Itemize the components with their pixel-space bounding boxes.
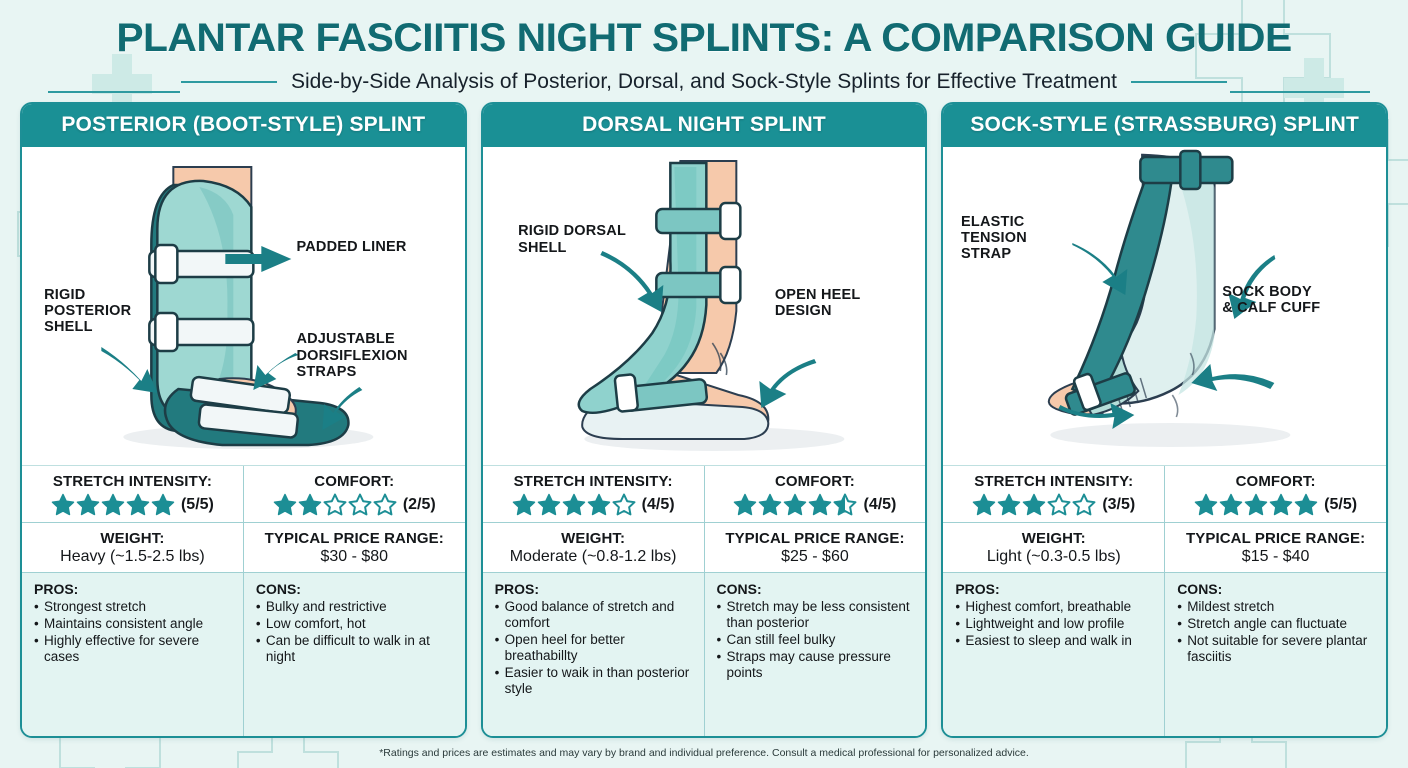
list-item: Lightweight and low profile — [955, 616, 1154, 632]
spec-value: Light (~0.3-0.5 lbs) — [947, 548, 1160, 566]
star-full-icon — [1294, 493, 1318, 516]
illustration-posterior-boot: PADDED LINER RIGIDPOSTERIORSHELL ADJUSTA… — [22, 147, 465, 465]
spec-row-weight-price: WEIGHT: Light (~0.3-0.5 lbs) TYPICAL PRI… — [943, 523, 1386, 572]
star-empty-icon — [612, 493, 636, 516]
spec-price: TYPICAL PRICE RANGE: $25 - $60 — [704, 523, 926, 572]
stars-comfort: (5/5) — [1169, 493, 1382, 516]
stars-comfort: (2/5) — [248, 493, 461, 516]
callout-line: POSTERIOR — [44, 303, 131, 319]
list-item: Not suitable for severe plantar fasciiti… — [1177, 633, 1376, 665]
callout-line: TENSION — [961, 230, 1027, 246]
spec-value: $30 - $80 — [248, 548, 461, 566]
star-full-icon — [758, 493, 782, 516]
star-full-icon — [512, 493, 536, 516]
star-full-icon — [733, 493, 757, 516]
spec-label: COMFORT: — [709, 473, 922, 490]
card-posterior-splint[interactable]: POSTERIOR (BOOT-STYLE) SPLINT — [20, 102, 467, 738]
pros-column: PROS: Strongest stretchMaintains consist… — [22, 573, 243, 736]
page-subtitle: Side-by-Side Analysis of Posterior, Dors… — [291, 70, 1117, 94]
stars-stretch: (4/5) — [487, 493, 700, 516]
stars-comfort: (4/5) — [709, 493, 922, 516]
star-full-icon — [126, 493, 150, 516]
callout-line: DORSIFLEXION — [296, 348, 407, 364]
pros-list: Good balance of stretch and comfortOpen … — [495, 599, 694, 697]
cons-column: CONS: Bulky and restrictiveLow comfort, … — [243, 573, 465, 736]
spec-label: STRETCH INTENSITY: — [26, 473, 239, 490]
spec-label: COMFORT: — [1169, 473, 1382, 490]
star-full-icon — [1244, 493, 1268, 516]
rating-score: (4/5) — [863, 496, 896, 514]
spec-stretch-intensity: STRETCH INTENSITY: (4/5) — [483, 466, 704, 522]
star-full-icon — [587, 493, 611, 516]
star-empty-icon — [373, 493, 397, 516]
callout-sock-body-calf-cuff: SOCK BODY& CALF CUFF — [1222, 284, 1320, 316]
spec-value: Heavy (~1.5-2.5 lbs) — [26, 548, 239, 566]
spec-label: WEIGHT: — [947, 530, 1160, 547]
star-full-icon — [537, 493, 561, 516]
spec-table: STRETCH INTENSITY: (3/5) COMFORT: (5/5) … — [943, 465, 1386, 572]
star-full-icon — [1194, 493, 1218, 516]
callout-line: STRAP — [961, 246, 1027, 262]
page-header: PLANTAR FASCIITIS NIGHT SPLINTS: A COMPA… — [0, 0, 1408, 94]
star-full-icon — [997, 493, 1021, 516]
list-item: Can be difficult to walk in at night — [256, 633, 455, 665]
spec-label: TYPICAL PRICE RANGE: — [709, 530, 922, 547]
pros-title: PROS: — [495, 581, 694, 597]
callout-line: & CALF CUFF — [1222, 300, 1320, 316]
rating-score: (5/5) — [1324, 496, 1357, 514]
list-item: Highly effective for severe cases — [34, 633, 233, 665]
spec-label: TYPICAL PRICE RANGE: — [248, 530, 461, 547]
list-item: Good balance of stretch and comfort — [495, 599, 694, 631]
callout-line: ELASTIC — [961, 214, 1027, 230]
rating-score: (5/5) — [181, 496, 214, 514]
callout-line: DESIGN — [775, 303, 861, 319]
list-item: Strongest stretch — [34, 599, 233, 615]
cons-column: CONS: Stretch may be less consistent tha… — [704, 573, 926, 736]
spec-price: TYPICAL PRICE RANGE: $15 - $40 — [1164, 523, 1386, 572]
callout-rigid-dorsal-shell: RIGID DORSALSHELL — [518, 223, 626, 255]
list-item: Highest comfort, breathable — [955, 599, 1154, 615]
spec-price: TYPICAL PRICE RANGE: $30 - $80 — [243, 523, 465, 572]
callout-rigid-posterior-shell: RIGIDPOSTERIORSHELL — [44, 287, 131, 336]
pros-column: PROS: Good balance of stretch and comfor… — [483, 573, 704, 736]
cons-list: Bulky and restrictiveLow comfort, hotCan… — [256, 599, 455, 665]
star-empty-icon — [348, 493, 372, 516]
list-item: Bulky and restrictive — [256, 599, 455, 615]
cons-column: CONS: Mildest stretchStretch angle can f… — [1164, 573, 1386, 736]
spec-table: STRETCH INTENSITY: (4/5) COMFORT: (4/5) … — [483, 465, 926, 572]
spec-label: STRETCH INTENSITY: — [487, 473, 700, 490]
cons-list: Mildest stretchStretch angle can fluctua… — [1177, 599, 1376, 665]
star-full-icon — [273, 493, 297, 516]
cons-list: Stretch may be less consistent than post… — [717, 599, 916, 681]
star-full-icon — [808, 493, 832, 516]
pros-title: PROS: — [34, 581, 233, 597]
star-full-icon — [1022, 493, 1046, 516]
card-sock-style-splint[interactable]: SOCK-STYLE (STRASSBURG) SPLINT — [941, 102, 1388, 738]
callout-line: ADJUSTABLE — [296, 331, 407, 347]
subtitle-rule-right — [1131, 81, 1227, 83]
page-title: PLANTAR FASCIITIS NIGHT SPLINTS: A COMPA… — [0, 16, 1408, 61]
spec-comfort: COMFORT: (4/5) — [704, 466, 926, 522]
list-item: Straps may cause pressure points — [717, 649, 916, 681]
list-item: Open heel for better breathabillty — [495, 632, 694, 664]
pros-cons: PROS: Good balance of stretch and comfor… — [483, 572, 926, 736]
list-item: Can still feel bulky — [717, 632, 916, 648]
callout-line: SHELL — [518, 240, 626, 256]
subtitle-rule-left — [181, 81, 277, 83]
stars-stretch: (5/5) — [26, 493, 239, 516]
disclaimer-text: *Ratings and prices are estimates and ma… — [379, 747, 1029, 759]
spec-stretch-intensity: STRETCH INTENSITY: (5/5) — [22, 466, 243, 522]
illustration-dorsal-splint: RIGID DORSALSHELL OPEN HEELDESIGN — [483, 147, 926, 465]
card-title: SOCK-STYLE (STRASSBURG) SPLINT — [943, 104, 1386, 147]
illustration-sock-splint: ELASTICTENSIONSTRAP SOCK BODY& CALF CUFF — [943, 147, 1386, 465]
spec-label: WEIGHT: — [26, 530, 239, 547]
callout-open-heel-design: OPEN HEELDESIGN — [775, 287, 861, 319]
subtitle-row: Side-by-Side Analysis of Posterior, Dors… — [0, 70, 1408, 94]
star-full-icon — [101, 493, 125, 516]
cons-title: CONS: — [1177, 581, 1376, 597]
spec-row-weight-price: WEIGHT: Moderate (~0.8-1.2 lbs) TYPICAL … — [483, 523, 926, 572]
spec-label: COMFORT: — [248, 473, 461, 490]
spec-label: TYPICAL PRICE RANGE: — [1169, 530, 1382, 547]
spec-comfort: COMFORT: (5/5) — [1164, 466, 1386, 522]
list-item: Low comfort, hot — [256, 616, 455, 632]
callout-line: PADDED LINER — [296, 239, 406, 255]
callout-line: SOCK BODY — [1222, 284, 1320, 300]
star-full-icon — [1219, 493, 1243, 516]
star-full-icon — [51, 493, 75, 516]
star-full-icon — [151, 493, 175, 516]
list-item: Mildest stretch — [1177, 599, 1376, 615]
comparison-cards: POSTERIOR (BOOT-STYLE) SPLINT — [0, 94, 1408, 738]
list-item: Easiest to sleep and walk in — [955, 633, 1154, 649]
spec-row-ratings: STRETCH INTENSITY: (3/5) COMFORT: (5/5) — [943, 466, 1386, 523]
callout-line: STRAPS — [296, 364, 407, 380]
pros-column: PROS: Highest comfort, breathableLightwe… — [943, 573, 1164, 736]
spec-label: STRETCH INTENSITY: — [947, 473, 1160, 490]
spec-weight: WEIGHT: Light (~0.3-0.5 lbs) — [943, 523, 1164, 572]
infographic-page: PLANTAR FASCIITIS NIGHT SPLINTS: A COMPA… — [0, 0, 1408, 768]
spec-label: WEIGHT: — [487, 530, 700, 547]
card-title: POSTERIOR (BOOT-STYLE) SPLINT — [22, 104, 465, 147]
star-empty-icon — [1047, 493, 1071, 516]
spec-value: $25 - $60 — [709, 548, 922, 566]
rating-score: (2/5) — [403, 496, 436, 514]
callout-adjustable-straps: ADJUSTABLEDORSIFLEXIONSTRAPS — [296, 331, 407, 380]
star-full-icon — [562, 493, 586, 516]
pros-cons: PROS: Highest comfort, breathableLightwe… — [943, 572, 1386, 736]
spec-row-weight-price: WEIGHT: Heavy (~1.5-2.5 lbs) TYPICAL PRI… — [22, 523, 465, 572]
spec-table: STRETCH INTENSITY: (5/5) COMFORT: (2/5) … — [22, 465, 465, 572]
rating-score: (3/5) — [1102, 496, 1135, 514]
list-item: Easier to waik in than posterior style — [495, 665, 694, 697]
star-full-icon — [783, 493, 807, 516]
callout-line: SHELL — [44, 319, 131, 335]
callout-padded-liner: PADDED LINER — [296, 239, 406, 255]
spec-stretch-intensity: STRETCH INTENSITY: (3/5) — [943, 466, 1164, 522]
card-dorsal-splint[interactable]: DORSAL NIGHT SPLINT — [481, 102, 928, 738]
star-full-icon — [76, 493, 100, 516]
rating-score: (4/5) — [642, 496, 675, 514]
spec-weight: WEIGHT: Moderate (~0.8-1.2 lbs) — [483, 523, 704, 572]
card-title: DORSAL NIGHT SPLINT — [483, 104, 926, 147]
list-item: Maintains consistent angle — [34, 616, 233, 632]
callout-line: RIGID — [44, 287, 131, 303]
list-item: Stretch angle can fluctuate — [1177, 616, 1376, 632]
callout-elastic-tension-strap: ELASTICTENSIONSTRAP — [961, 214, 1027, 263]
cons-title: CONS: — [717, 581, 916, 597]
spec-row-ratings: STRETCH INTENSITY: (5/5) COMFORT: (2/5) — [22, 466, 465, 523]
spec-comfort: COMFORT: (2/5) — [243, 466, 465, 522]
stars-stretch: (3/5) — [947, 493, 1160, 516]
pros-cons: PROS: Strongest stretchMaintains consist… — [22, 572, 465, 736]
star-full-icon — [1269, 493, 1293, 516]
spec-value: Moderate (~0.8-1.2 lbs) — [487, 548, 700, 566]
spec-value: $15 - $40 — [1169, 548, 1382, 566]
list-item: Stretch may be less consistent than post… — [717, 599, 916, 631]
star-empty-icon — [1072, 493, 1096, 516]
spec-weight: WEIGHT: Heavy (~1.5-2.5 lbs) — [22, 523, 243, 572]
pros-list: Highest comfort, breathableLightweight a… — [955, 599, 1154, 649]
cons-title: CONS: — [256, 581, 455, 597]
callout-line: RIGID DORSAL — [518, 223, 626, 239]
pros-title: PROS: — [955, 581, 1154, 597]
star-full-icon — [972, 493, 996, 516]
page-footer: *Ratings and prices are estimates and ma… — [0, 738, 1408, 768]
star-empty-icon — [323, 493, 347, 516]
spec-row-ratings: STRETCH INTENSITY: (4/5) COMFORT: (4/5) — [483, 466, 926, 523]
pros-list: Strongest stretchMaintains consistent an… — [34, 599, 233, 665]
star-full-icon — [298, 493, 322, 516]
star-half-icon — [833, 493, 857, 516]
callout-line: OPEN HEEL — [775, 287, 861, 303]
